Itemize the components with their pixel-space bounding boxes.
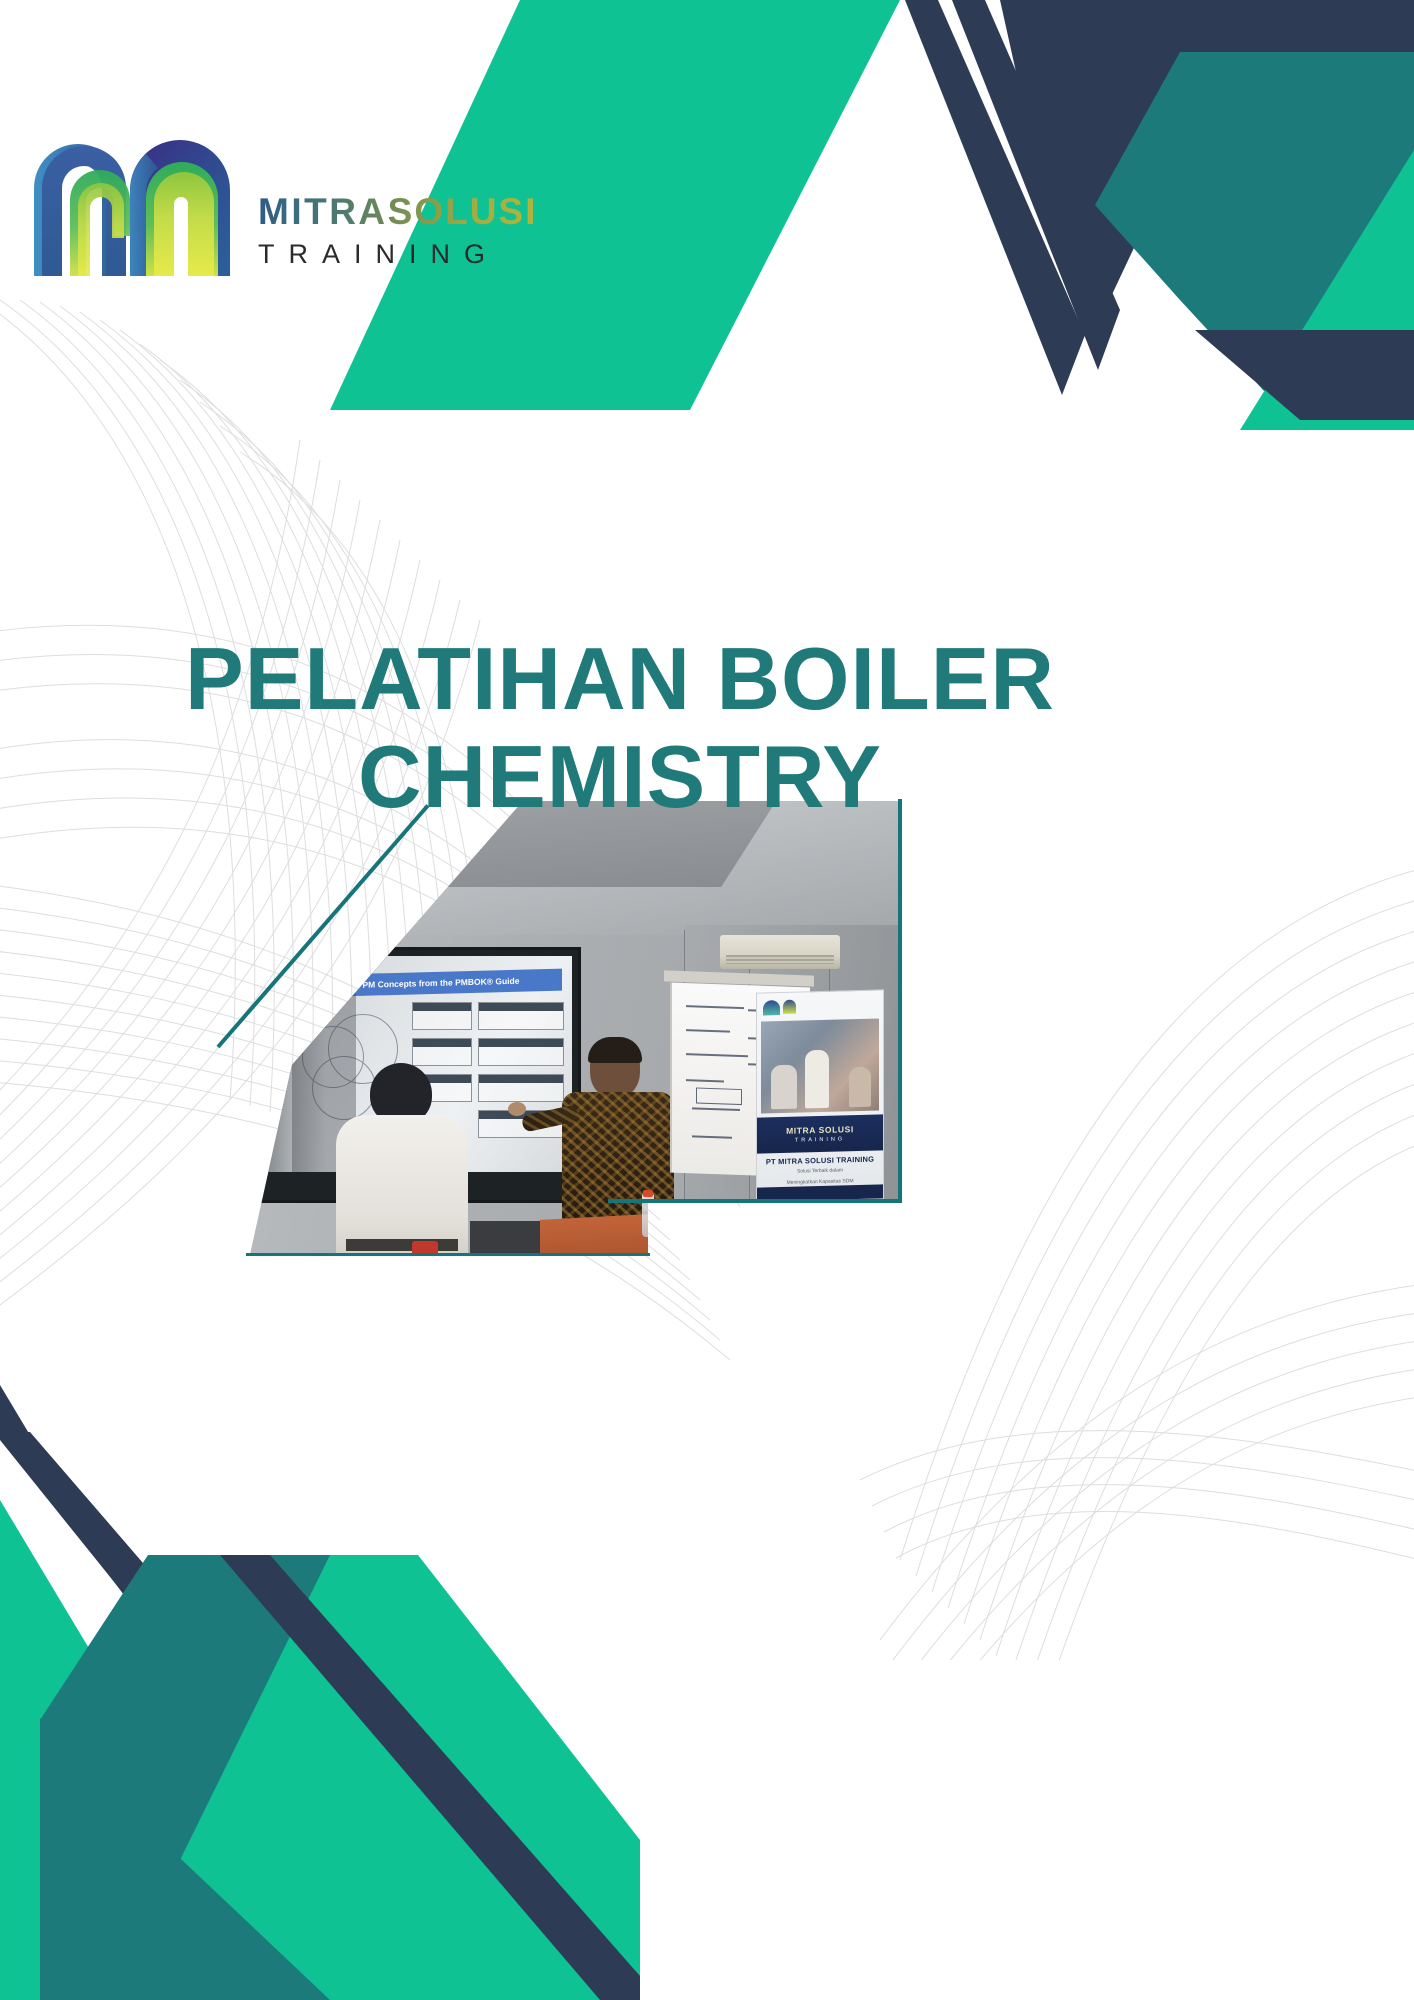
banner-logo-arch-1 [763,1000,780,1015]
instructor-hand [508,1102,526,1116]
brand-name-part2: SOLUSI [388,191,538,232]
page-title-line-2: CHEMISTRY [120,728,1120,826]
page-title: PELATIHAN BOILER CHEMISTRY [120,630,1120,825]
coffee-cup [670,1219,692,1229]
slide-box [478,1074,564,1102]
teal-diamond-lower [40,1718,330,2000]
navy-sliver [1195,330,1414,420]
rollup-banner-brand-line2: TRAINING [795,1136,845,1143]
slide-box [478,1002,564,1030]
photo-frame-bottom-left [246,1253,650,1256]
air-conditioner-icon [720,935,840,969]
green-overlay-triangle [1240,150,1414,430]
rollup-banner-company: PT MITRA SOLUSI TRAINING [757,1154,883,1166]
brand-subtitle: TRAINING [258,239,537,270]
green-triangle-accent [1015,0,1414,120]
deco-bottom-left [0,1385,640,2000]
navy-thin-stripe-1 [905,0,1085,395]
green-diamond-block [120,1555,640,2000]
rollup-banner-text: PT MITRA SOLUSI TRAINING Solusi Terbaik … [757,1154,883,1187]
cover-photo: Key PM Concepts from the PMBOK® Guide [240,795,900,1265]
rollup-banner: MITRA SOLUSI TRAINING PT MITRA SOLUSI TR… [756,989,884,1202]
navy-thin-stripe-2 [952,0,1120,370]
instructor-batik-shirt [562,1092,674,1232]
ac-vent [726,955,834,964]
cover-page: MITRASOLUSI TRAINING PELATIHAN BOILER CH… [0,0,1414,2000]
cover-photo-image: Key PM Concepts from the PMBOK® Guide [240,795,900,1265]
rollup-banner-brand-band: MITRA SOLUSI TRAINING [757,1114,883,1153]
rollup-banner-photo [761,1018,879,1113]
slide-title: Key PM Concepts from the PMBOK® Guide [302,969,562,998]
banner-person-2 [805,1050,829,1109]
photo-frame-bottom-right [608,1199,902,1203]
banner-person-1 [771,1065,797,1110]
navy-chevron-block [1000,0,1414,320]
rollup-banner-brand-line1: MITRA SOLUSI [786,1124,854,1136]
red-cup [412,1241,438,1259]
teal-diamond-overlap [40,1555,330,1860]
brand-wordmark: MITRASOLUSI TRAINING [258,193,537,276]
brand-logo: MITRASOLUSI TRAINING [28,96,588,276]
teal-hex-block [1095,52,1414,430]
brand-name: MITRASOLUSI [258,193,537,230]
navy-diagonal-stripe-outer [0,1385,450,2000]
navy-stripe-over-green [220,1555,640,2000]
participant-figure [336,1063,468,1265]
banner-logo-arch-2 [783,1000,796,1014]
photo-frame-right-edge [898,799,902,1203]
slide-header-bar: Key PM Concepts from the PMBOK® Guide [302,969,562,998]
slide-box [478,1038,564,1066]
mitra-solusi-logo-icon [28,116,240,276]
rollup-banner-logo-icon [763,997,823,1017]
water-bottle-cap [643,1190,653,1197]
slide-box [412,1002,472,1030]
banner-person-3 [849,1067,871,1108]
participant-belt [346,1239,458,1251]
green-diamond-block-left [0,1500,300,2000]
instructor-hair [588,1037,642,1063]
page-title-line-1: PELATIHAN BOILER [120,630,1120,728]
navy-diagonal-stripe-inner [0,1432,520,2000]
rollup-banner-tagline-1: Solusi Terbaik dalam [757,1166,883,1177]
brand-name-part1: MITRA [258,191,388,232]
slide-box [412,1038,472,1066]
